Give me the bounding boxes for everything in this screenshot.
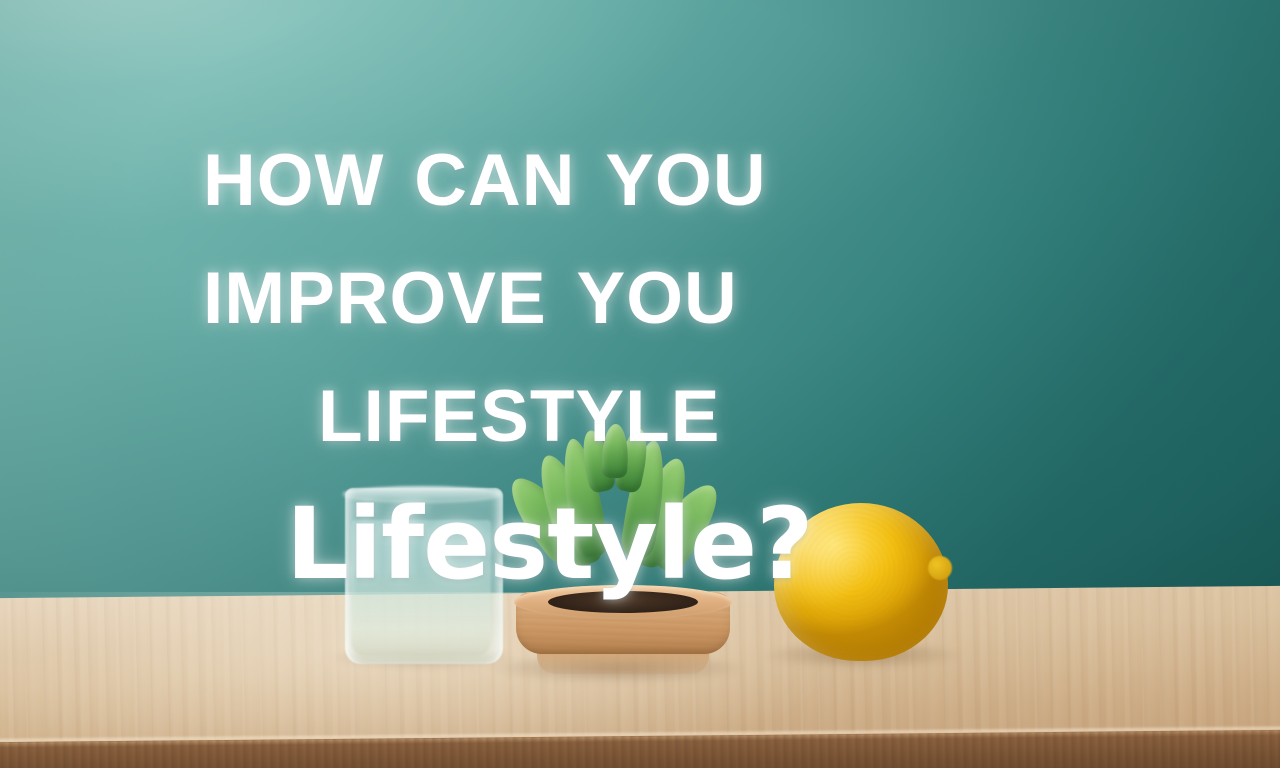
glass-rim <box>343 486 501 501</box>
pot-soil <box>548 591 698 613</box>
glass-water-fill <box>351 520 491 656</box>
lemon-nub <box>928 556 952 580</box>
banner-image: M E C E C B A K T How Can You Improve Yo… <box>0 0 1280 768</box>
lemon-texture <box>774 503 948 661</box>
